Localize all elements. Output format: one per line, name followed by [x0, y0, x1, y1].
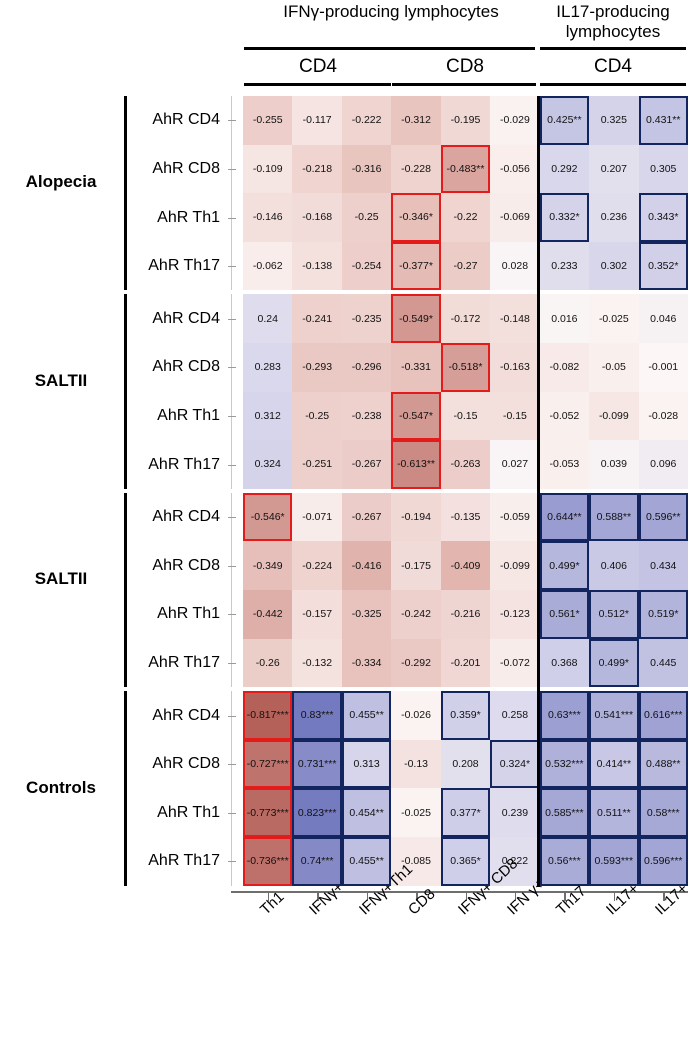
heatmap-cell: -0.109	[243, 145, 292, 194]
heatmap-cell: -0.409	[441, 541, 490, 590]
heatmap-cell: 0.207	[589, 145, 638, 194]
heatmap-cell: -0.222	[342, 96, 391, 145]
y-axis-tick	[228, 266, 236, 267]
row-label-ahr-th17: AhR Th17	[132, 456, 220, 474]
heatmap-cell: -0.377*	[391, 242, 440, 291]
heatmap-cell: 0.644**	[540, 493, 589, 542]
y-axis-spine	[231, 691, 232, 885]
heatmap-cell: 0.731***	[292, 740, 341, 789]
heatmap-cell: -0.255	[243, 96, 292, 145]
heatmap-cell: 0.488**	[639, 740, 688, 789]
heatmap-cell: 0.312	[243, 392, 292, 441]
heatmap-cell: 0.406	[589, 541, 638, 590]
heatmap-cell: -0.267	[342, 493, 391, 542]
heatmap-cell: 0.028	[490, 242, 539, 291]
heatmap-cell: -0.025	[391, 788, 440, 837]
heatmap-cell: 0.455**	[342, 691, 391, 740]
heatmap-cell: 0.532***	[540, 740, 589, 789]
heatmap-cell: -0.072	[490, 639, 539, 688]
y-axis-tick	[228, 764, 236, 765]
row-group-bar	[124, 493, 127, 687]
heatmap-cell: 0.208	[441, 740, 490, 789]
heatmap-cell: -0.325	[342, 590, 391, 639]
heatmap-cell: 0.56***	[540, 837, 589, 886]
row-label-ahr-cd4: AhR CD4	[132, 111, 220, 129]
heatmap-cell: -0.263	[441, 440, 490, 489]
heatmap-cell: -0.442	[243, 590, 292, 639]
heatmap-cell: -0.15	[490, 392, 539, 441]
heatmap-cell: 0.63***	[540, 691, 589, 740]
heatmap-cell: 0.499*	[540, 541, 589, 590]
row-label-ahr-cd8: AhR CD8	[132, 557, 220, 575]
heatmap-cell: -0.062	[243, 242, 292, 291]
heatmap-cell: -0.001	[639, 343, 688, 392]
heatmap-cell: 0.519*	[639, 590, 688, 639]
heatmap-cell: -0.293	[292, 343, 341, 392]
heatmap-cell: -0.216	[441, 590, 490, 639]
heatmap-cell: 0.593***	[589, 837, 638, 886]
heatmap-cell: -0.331	[391, 343, 440, 392]
heatmap-cell: -0.25	[342, 193, 391, 242]
y-axis-tick	[228, 663, 236, 664]
heatmap-cell: 0.359*	[441, 691, 490, 740]
heatmap-cell: -0.224	[292, 541, 341, 590]
heatmap-cell: -0.117	[292, 96, 341, 145]
heatmap-cell: -0.242	[391, 590, 440, 639]
heatmap-cell: -0.736***	[243, 837, 292, 886]
y-axis-tick	[228, 813, 236, 814]
heatmap-cell: 0.305	[639, 145, 688, 194]
column-group-title-il17: IL17-producing lymphocytes	[538, 2, 688, 42]
heatmap-cell: -0.292	[391, 639, 440, 688]
heatmap-cell: -0.613**	[391, 440, 440, 489]
heatmap-cell: -0.296	[342, 343, 391, 392]
heatmap-cell: 0.377*	[441, 788, 490, 837]
subgroup-rule-cd8-ifng	[392, 83, 536, 86]
heatmap-cell: -0.157	[292, 590, 341, 639]
heatmap-cell: 0.325	[589, 96, 638, 145]
heatmap-cell: -0.727***	[243, 740, 292, 789]
heatmap-cell: 0.434	[639, 541, 688, 590]
y-axis-tick	[228, 614, 236, 615]
heatmap-cell: 0.414**	[589, 740, 638, 789]
row-label-ahr-th17: AhR Th17	[132, 852, 220, 870]
row-group-label-2: SALTII≤25	[2, 370, 120, 391]
heatmap-cell: -0.334	[342, 639, 391, 688]
heatmap-cell: -0.099	[490, 541, 539, 590]
heatmap-cell: -0.15	[441, 392, 490, 441]
heatmap-cell: 0.58***	[639, 788, 688, 837]
heatmap-cell: -0.546*	[243, 493, 292, 542]
heatmap-cell: -0.148	[490, 294, 539, 343]
heatmap-cell: 0.74***	[292, 837, 341, 886]
heatmap-cell: 0.343*	[639, 193, 688, 242]
row-group-label-4: Controls	[2, 777, 120, 798]
heatmap-cell: 0.561*	[540, 590, 589, 639]
heatmap-cell: -0.349	[243, 541, 292, 590]
y-axis-tick	[228, 517, 236, 518]
heatmap-cell: 0.596**	[639, 493, 688, 542]
subgroup-rule-cd4-ifng	[244, 83, 391, 86]
heatmap-cell: 0.511**	[589, 788, 638, 837]
heatmap-cell: 0.431**	[639, 96, 688, 145]
row-group-label-1: Alopeciaareata	[2, 171, 120, 192]
heatmap-cell: -0.172	[441, 294, 490, 343]
heatmap-cell: 0.039	[589, 440, 638, 489]
heatmap-cell: -0.168	[292, 193, 341, 242]
row-group-label-line1: SALTII	[35, 371, 88, 390]
x-label-1: Th1	[257, 888, 288, 918]
heatmap-cell: -0.05	[589, 343, 638, 392]
heatmap-cell: -0.228	[391, 145, 440, 194]
heatmap-cell: 0.616***	[639, 691, 688, 740]
heatmap-cell: 0.236	[589, 193, 638, 242]
y-axis-spine	[231, 96, 232, 290]
subgroup-rule-cd4-il17	[540, 83, 686, 86]
y-axis-spine	[231, 294, 232, 488]
row-label-ahr-th1: AhR Th1	[132, 209, 220, 227]
heatmap-cell: -0.22	[441, 193, 490, 242]
heatmap-cell: 0.313	[342, 740, 391, 789]
y-axis-tick	[228, 367, 236, 368]
heatmap-cell: -0.175	[391, 541, 440, 590]
heatmap-cell: 0.096	[639, 440, 688, 489]
heatmap-cell: -0.071	[292, 493, 341, 542]
heatmap-cell: 0.239	[490, 788, 539, 837]
heatmap-cell: 0.233	[540, 242, 589, 291]
heatmap-cell: -0.026	[391, 691, 440, 740]
heatmap-cell: -0.346*	[391, 193, 440, 242]
heatmap-cell: 0.016	[540, 294, 589, 343]
y-axis-tick	[228, 566, 236, 567]
heatmap-cell: -0.547*	[391, 392, 440, 441]
heatmap-cell: 0.324*	[490, 740, 539, 789]
heatmap-cell: -0.138	[292, 242, 341, 291]
y-axis-tick	[228, 861, 236, 862]
heatmap-cell: -0.25	[292, 392, 341, 441]
row-label-ahr-th17: AhR Th17	[132, 257, 220, 275]
row-label-ahr-th17: AhR Th17	[132, 654, 220, 672]
heatmap-cell: 0.499*	[589, 639, 638, 688]
y-axis-tick	[228, 169, 236, 170]
heatmap-cell: -0.201	[441, 639, 490, 688]
heatmap-cell: -0.146	[243, 193, 292, 242]
heatmap-cell: -0.316	[342, 145, 391, 194]
heatmap-cell: 0.585***	[540, 788, 589, 837]
heatmap-cell: -0.13	[391, 740, 440, 789]
y-axis-tick	[228, 716, 236, 717]
row-label-ahr-th1: AhR Th1	[132, 804, 220, 822]
row-group-label-line1: Alopecia	[26, 172, 97, 191]
heatmap-cell: -0.082	[540, 343, 589, 392]
row-label-ahr-cd8: AhR CD8	[132, 755, 220, 773]
row-group-label-3: SALTII>25	[2, 568, 120, 589]
heatmap-cell: 0.258	[490, 691, 539, 740]
heatmap-cell: -0.053	[540, 440, 589, 489]
y-axis-tick	[228, 319, 236, 320]
heatmap-cell: 0.365*	[441, 837, 490, 886]
heatmap-cell: -0.26	[243, 639, 292, 688]
heatmap-cell: 0.332*	[540, 193, 589, 242]
heatmap-cell: -0.069	[490, 193, 539, 242]
heatmap-cell: -0.773***	[243, 788, 292, 837]
heatmap-cell: -0.817***	[243, 691, 292, 740]
heatmap-cell: 0.324	[243, 440, 292, 489]
heatmap-cell: -0.028	[639, 392, 688, 441]
row-label-ahr-cd4: AhR CD4	[132, 310, 220, 328]
row-label-ahr-cd8: AhR CD8	[132, 160, 220, 178]
heatmap-cell: 0.83***	[292, 691, 341, 740]
heatmap-cell: -0.029	[490, 96, 539, 145]
subgroup-title-cd4-ifng: CD4	[244, 56, 392, 78]
row-label-ahr-th1: AhR Th1	[132, 407, 220, 425]
heatmap-cell: 0.046	[639, 294, 688, 343]
row-group-label-line1: SALTII	[35, 569, 88, 588]
heatmap-cell: 0.425**	[540, 96, 589, 145]
x-label-7: Th17	[553, 883, 590, 919]
heatmap-cell: -0.163	[490, 343, 539, 392]
heatmap-cell: -0.123	[490, 590, 539, 639]
row-group-label-line1: Controls	[26, 778, 96, 797]
column-group-rule-ifng	[244, 47, 535, 50]
heatmap-cell: -0.238	[342, 392, 391, 441]
subgroup-title-cd4-il17: CD4	[540, 56, 686, 78]
heatmap-cell: 0.292	[540, 145, 589, 194]
heatmap-cell: -0.518*	[441, 343, 490, 392]
y-axis-tick	[228, 218, 236, 219]
column-group-title-ifng: IFNγ-producing lymphocytes	[246, 2, 536, 22]
row-group-bar	[124, 691, 127, 885]
heatmap-cell: -0.194	[391, 493, 440, 542]
row-label-ahr-cd8: AhR CD8	[132, 358, 220, 376]
heatmap-cell: -0.483**	[441, 145, 490, 194]
heatmap-cell: 0.283	[243, 343, 292, 392]
row-group-bar	[124, 96, 127, 290]
heatmap-cell: -0.235	[342, 294, 391, 343]
y-axis-tick	[228, 465, 236, 466]
y-axis-tick	[228, 120, 236, 121]
heatmap-cell: 0.541***	[589, 691, 638, 740]
row-group-bar	[124, 294, 127, 488]
heatmap-cell: -0.132	[292, 639, 341, 688]
heatmap-cell: -0.195	[441, 96, 490, 145]
heatmap-cell: 0.823***	[292, 788, 341, 837]
heatmap-cell: 0.445	[639, 639, 688, 688]
heatmap-cell: -0.416	[342, 541, 391, 590]
column-group-rule-il17	[540, 47, 686, 50]
heatmap-cell: 0.596***	[639, 837, 688, 886]
heatmap-cell: -0.251	[292, 440, 341, 489]
heatmap-cell: -0.549*	[391, 294, 440, 343]
heatmap-cell: -0.27	[441, 242, 490, 291]
heatmap-cell: -0.052	[540, 392, 589, 441]
heatmap-cell: 0.352*	[639, 242, 688, 291]
heatmap-cell: -0.254	[342, 242, 391, 291]
heatmap-cell: -0.312	[391, 96, 440, 145]
panel-divider	[537, 96, 540, 887]
y-axis-tick	[228, 416, 236, 417]
heatmap-cell: -0.099	[589, 392, 638, 441]
heatmap-cell: 0.027	[490, 440, 539, 489]
heatmap-cell: -0.267	[342, 440, 391, 489]
row-label-ahr-cd4: AhR CD4	[132, 508, 220, 526]
heatmap-cell: -0.025	[589, 294, 638, 343]
row-label-ahr-th1: AhR Th1	[132, 605, 220, 623]
heatmap-cell: 0.368	[540, 639, 589, 688]
heatmap-cell: 0.302	[589, 242, 638, 291]
heatmap-cell: 0.588**	[589, 493, 638, 542]
heatmap-cell: -0.241	[292, 294, 341, 343]
heatmap-cell: 0.454**	[342, 788, 391, 837]
subgroup-title-cd8-ifng: CD8	[391, 56, 539, 78]
heatmap-cell: 0.455**	[342, 837, 391, 886]
heatmap-cell: 0.512*	[589, 590, 638, 639]
heatmap-cell: -0.135	[441, 493, 490, 542]
heatmap-cell: 0.24	[243, 294, 292, 343]
heatmap-cell: -0.059	[490, 493, 539, 542]
heatmap-cell: -0.218	[292, 145, 341, 194]
heatmap-cell: -0.056	[490, 145, 539, 194]
y-axis-spine	[231, 493, 232, 687]
row-label-ahr-cd4: AhR CD4	[132, 707, 220, 725]
